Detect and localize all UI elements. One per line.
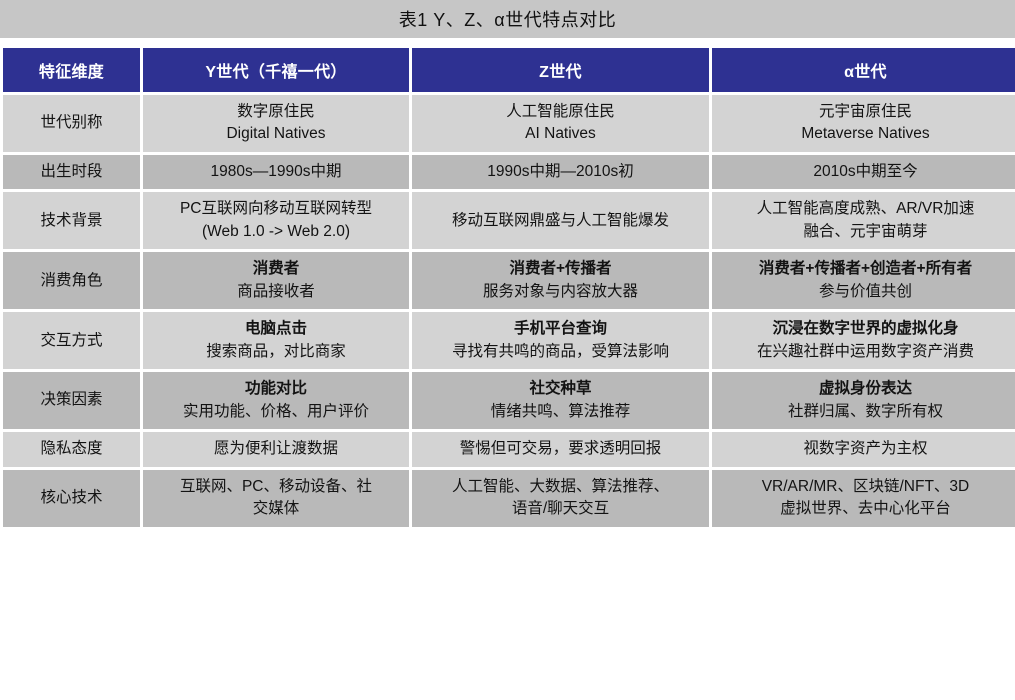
table-cell-r3-c2: 消费者+传播者+创造者+所有者参与价值共创: [712, 252, 1015, 309]
table-cell-r7-c2: VR/AR/MR、区块链/NFT、3D虚拟世界、去中心化平台: [712, 470, 1015, 527]
table-header-row: 特征维度 Y世代（千禧一代） Z世代 α世代: [3, 48, 1015, 92]
cell-line: 人工智能原住民: [422, 101, 699, 123]
cell-line: 1990s中期—2010s初: [422, 161, 699, 183]
cell-line: 参与价值共创: [722, 281, 1009, 303]
page-title: 表1 Y、Z、α世代特点对比: [399, 6, 616, 32]
cell-line: 视数字资产为主权: [722, 438, 1009, 460]
cell-line: 功能对比: [153, 378, 399, 400]
row-header-0: 世代别称: [3, 95, 140, 152]
column-header-gen-alpha: α世代: [712, 48, 1015, 92]
table-cell-r3-c1: 消费者+传播者服务对象与内容放大器: [412, 252, 709, 309]
cell-line: 移动互联网鼎盛与人工智能爆发: [422, 210, 699, 232]
cell-line: 愿为便利让渡数据: [153, 438, 399, 460]
cell-line: 互联网、PC、移动设备、社: [153, 476, 399, 498]
cell-line: PC互联网向移动互联网转型: [153, 198, 399, 220]
cell-line: 融合、元宇宙萌芽: [722, 221, 1009, 243]
table-cell-r0-c1: 人工智能原住民AI Natives: [412, 95, 709, 152]
column-header-gen-z: Z世代: [412, 48, 709, 92]
cell-line: 警惕但可交易，要求透明回报: [422, 438, 699, 460]
cell-line: 实用功能、价格、用户评价: [153, 401, 399, 423]
cell-line: 在兴趣社群中运用数字资产消费: [722, 341, 1009, 363]
row-header-1: 出生时段: [3, 155, 140, 189]
table-cell-r3-c0: 消费者商品接收者: [143, 252, 409, 309]
table-row: 交互方式电脑点击搜索商品，对比商家手机平台查询寻找有共鸣的商品，受算法影响沉浸在…: [3, 312, 1015, 369]
table-cell-r4-c2: 沉浸在数字世界的虚拟化身在兴趣社群中运用数字资产消费: [712, 312, 1015, 369]
table-cell-r2-c2: 人工智能高度成熟、AR/VR加速融合、元宇宙萌芽: [712, 192, 1015, 249]
row-header-5: 决策因素: [3, 372, 140, 429]
cell-line: 人工智能高度成熟、AR/VR加速: [722, 198, 1009, 220]
comparison-table-wrapper: 特征维度 Y世代（千禧一代） Z世代 α世代 世代别称数字原住民Digital …: [0, 45, 1015, 530]
table-row: 核心技术互联网、PC、移动设备、社交媒体人工智能、大数据、算法推荐、语音/聊天交…: [3, 470, 1015, 527]
table-cell-r1-c0: 1980s—1990s中期: [143, 155, 409, 189]
cell-line: 虚拟世界、去中心化平台: [722, 498, 1009, 520]
row-header-2: 技术背景: [3, 192, 140, 249]
cell-line: 1980s—1990s中期: [153, 161, 399, 183]
cell-line: 电脑点击: [153, 318, 399, 340]
cell-line: 消费者+传播者: [422, 258, 699, 280]
cell-line: 消费者+传播者+创造者+所有者: [722, 258, 1009, 280]
cell-line: 寻找有共鸣的商品，受算法影响: [422, 341, 699, 363]
row-header-4: 交互方式: [3, 312, 140, 369]
cell-line: 交媒体: [153, 498, 399, 520]
cell-line: VR/AR/MR、区块链/NFT、3D: [722, 476, 1009, 498]
row-header-6: 隐私态度: [3, 432, 140, 466]
table-cell-r4-c0: 电脑点击搜索商品，对比商家: [143, 312, 409, 369]
cell-line: 服务对象与内容放大器: [422, 281, 699, 303]
table-row: 隐私态度愿为便利让渡数据警惕但可交易，要求透明回报视数字资产为主权: [3, 432, 1015, 466]
table-cell-r6-c2: 视数字资产为主权: [712, 432, 1015, 466]
cell-line: 社交种草: [422, 378, 699, 400]
cell-line: 社群归属、数字所有权: [722, 401, 1009, 423]
table-cell-r4-c1: 手机平台查询寻找有共鸣的商品，受算法影响: [412, 312, 709, 369]
table-cell-r2-c1: 移动互联网鼎盛与人工智能爆发: [412, 192, 709, 249]
cell-line: 元宇宙原住民: [722, 101, 1009, 123]
table-cell-r2-c0: PC互联网向移动互联网转型(Web 1.0 -> Web 2.0): [143, 192, 409, 249]
column-header-dimension: 特征维度: [3, 48, 140, 92]
table-cell-r0-c2: 元宇宙原住民Metaverse Natives: [712, 95, 1015, 152]
table-cell-r6-c1: 警惕但可交易，要求透明回报: [412, 432, 709, 466]
table-cell-r7-c1: 人工智能、大数据、算法推荐、语音/聊天交互: [412, 470, 709, 527]
cell-line: 数字原住民: [153, 101, 399, 123]
table-row: 出生时段1980s—1990s中期1990s中期—2010s初2010s中期至今: [3, 155, 1015, 189]
cell-line: 手机平台查询: [422, 318, 699, 340]
cell-line: 商品接收者: [153, 281, 399, 303]
table-cell-r1-c2: 2010s中期至今: [712, 155, 1015, 189]
table-row: 决策因素功能对比实用功能、价格、用户评价社交种草情绪共鸣、算法推荐虚拟身份表达社…: [3, 372, 1015, 429]
cell-line: 消费者: [153, 258, 399, 280]
table-cell-r6-c0: 愿为便利让渡数据: [143, 432, 409, 466]
table-cell-r5-c1: 社交种草情绪共鸣、算法推荐: [412, 372, 709, 429]
table-caption-bar: 表1 Y、Z、α世代特点对比: [0, 0, 1015, 38]
table-row: 消费角色消费者商品接收者消费者+传播者服务对象与内容放大器消费者+传播者+创造者…: [3, 252, 1015, 309]
cell-line: 虚拟身份表达: [722, 378, 1009, 400]
generation-comparison-table: 特征维度 Y世代（千禧一代） Z世代 α世代 世代别称数字原住民Digital …: [0, 45, 1015, 530]
cell-line: 沉浸在数字世界的虚拟化身: [722, 318, 1009, 340]
row-header-3: 消费角色: [3, 252, 140, 309]
title-table-spacer: [0, 38, 1015, 45]
table-cell-r1-c1: 1990s中期—2010s初: [412, 155, 709, 189]
cell-line: 语音/聊天交互: [422, 498, 699, 520]
cell-line: 情绪共鸣、算法推荐: [422, 401, 699, 423]
column-header-gen-y: Y世代（千禧一代）: [143, 48, 409, 92]
table-header: 特征维度 Y世代（千禧一代） Z世代 α世代: [3, 48, 1015, 92]
table-cell-r7-c0: 互联网、PC、移动设备、社交媒体: [143, 470, 409, 527]
cell-line: 搜索商品，对比商家: [153, 341, 399, 363]
cell-line: AI Natives: [422, 123, 699, 145]
table-cell-r5-c2: 虚拟身份表达社群归属、数字所有权: [712, 372, 1015, 429]
cell-line: 人工智能、大数据、算法推荐、: [422, 476, 699, 498]
table-cell-r5-c0: 功能对比实用功能、价格、用户评价: [143, 372, 409, 429]
table-row: 技术背景PC互联网向移动互联网转型(Web 1.0 -> Web 2.0)移动互…: [3, 192, 1015, 249]
cell-line: (Web 1.0 -> Web 2.0): [153, 221, 399, 243]
table-row: 世代别称数字原住民Digital Natives人工智能原住民AI Native…: [3, 95, 1015, 152]
cell-line: Digital Natives: [153, 123, 399, 145]
table-body: 世代别称数字原住民Digital Natives人工智能原住民AI Native…: [3, 95, 1015, 527]
cell-line: 2010s中期至今: [722, 161, 1009, 183]
table-cell-r0-c0: 数字原住民Digital Natives: [143, 95, 409, 152]
cell-line: Metaverse Natives: [722, 123, 1009, 145]
row-header-7: 核心技术: [3, 470, 140, 527]
